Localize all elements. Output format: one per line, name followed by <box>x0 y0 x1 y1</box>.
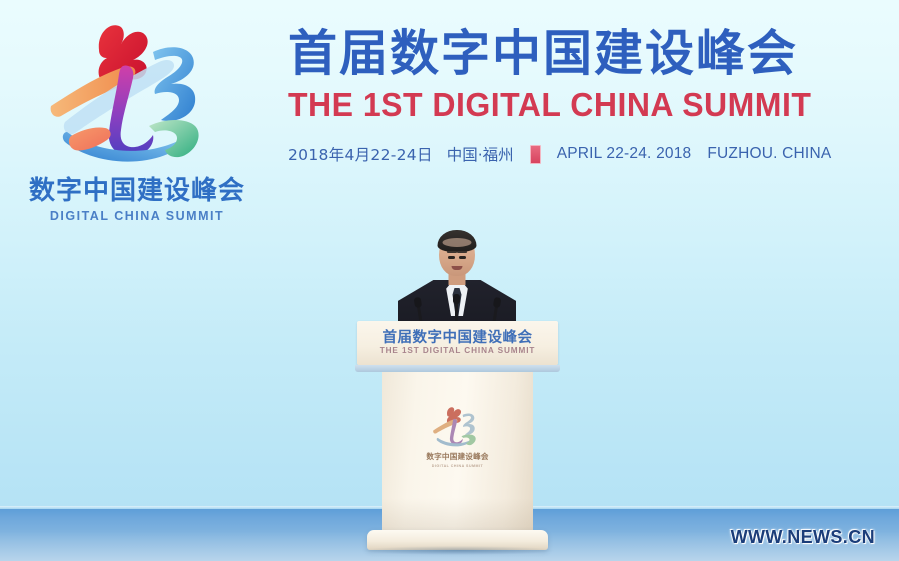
location-cn-text: 中国·福州 <box>447 143 514 165</box>
podium-sign-cn: 首届数字中国建设峰会 <box>357 326 558 347</box>
speaker-mouth <box>452 266 463 270</box>
podium-ground-shadow <box>362 546 554 555</box>
speaker-eye-right <box>459 256 466 259</box>
headline-en-title: THE 1ST DIGITAL CHINA SUMMIT <box>288 87 870 123</box>
podium-sign-panel: 首届数字中国建设峰会 THE 1ST DIGITAL CHINA SUMMIT <box>357 321 558 365</box>
location-en-text: FUZHOU. CHINA <box>707 145 831 163</box>
speaker-head <box>439 231 475 276</box>
speaker-hair <box>438 230 477 252</box>
news-cn-watermark: WWW.NEWS.CN <box>731 527 875 548</box>
speaker-brow-right <box>457 251 467 253</box>
podium-body: 数字中国建设峰会 DIGITAL CHINA SUMMIT <box>382 372 533 532</box>
headline-cn-title: 首届数字中国建设峰会 <box>288 28 888 81</box>
red-seal-mark-icon <box>530 145 541 164</box>
backdrop-brand-logo: 数字中国建设峰会 DIGITAL CHINA SUMMIT <box>14 14 260 223</box>
podium-emblem-en-label: DIGITAL CHINA SUMMIT <box>423 464 493 468</box>
headline-date-line: 2018年4月22-24日 中国·福州 APRIL 22-24. 2018 FU… <box>288 143 888 165</box>
podium-emblem: 数字中国建设峰会 DIGITAL CHINA SUMMIT <box>423 404 493 468</box>
podium-emblem-cn-label: 数字中国建设峰会 <box>423 451 493 462</box>
date-cn-text: 2018年4月22-24日 <box>288 143 433 165</box>
speaker-brow-left <box>447 251 457 253</box>
brand-logo-cn-label: 数字中国建设峰会 <box>14 178 260 204</box>
photo-canvas: 数字中国建设峰会 DIGITAL CHINA SUMMIT 首届数字中国建设峰会… <box>0 0 899 561</box>
brand-logo-en-label: DIGITAL CHINA SUMMIT <box>14 209 260 223</box>
podium-sign-en: THE 1ST DIGITAL CHINA SUMMIT <box>357 346 558 355</box>
date-en-text: APRIL 22-24. 2018 <box>557 145 692 163</box>
podium-top-lip <box>355 365 560 372</box>
speaker-eye-left <box>448 256 455 259</box>
backdrop-headline: 首届数字中国建设峰会 THE 1ST DIGITAL CHINA SUMMIT … <box>288 28 888 165</box>
digital-china-summit-emblem-icon <box>37 14 237 174</box>
podium-emblem-icon <box>429 404 487 450</box>
podium: 首届数字中国建设峰会 THE 1ST DIGITAL CHINA SUMMIT … <box>355 321 560 550</box>
